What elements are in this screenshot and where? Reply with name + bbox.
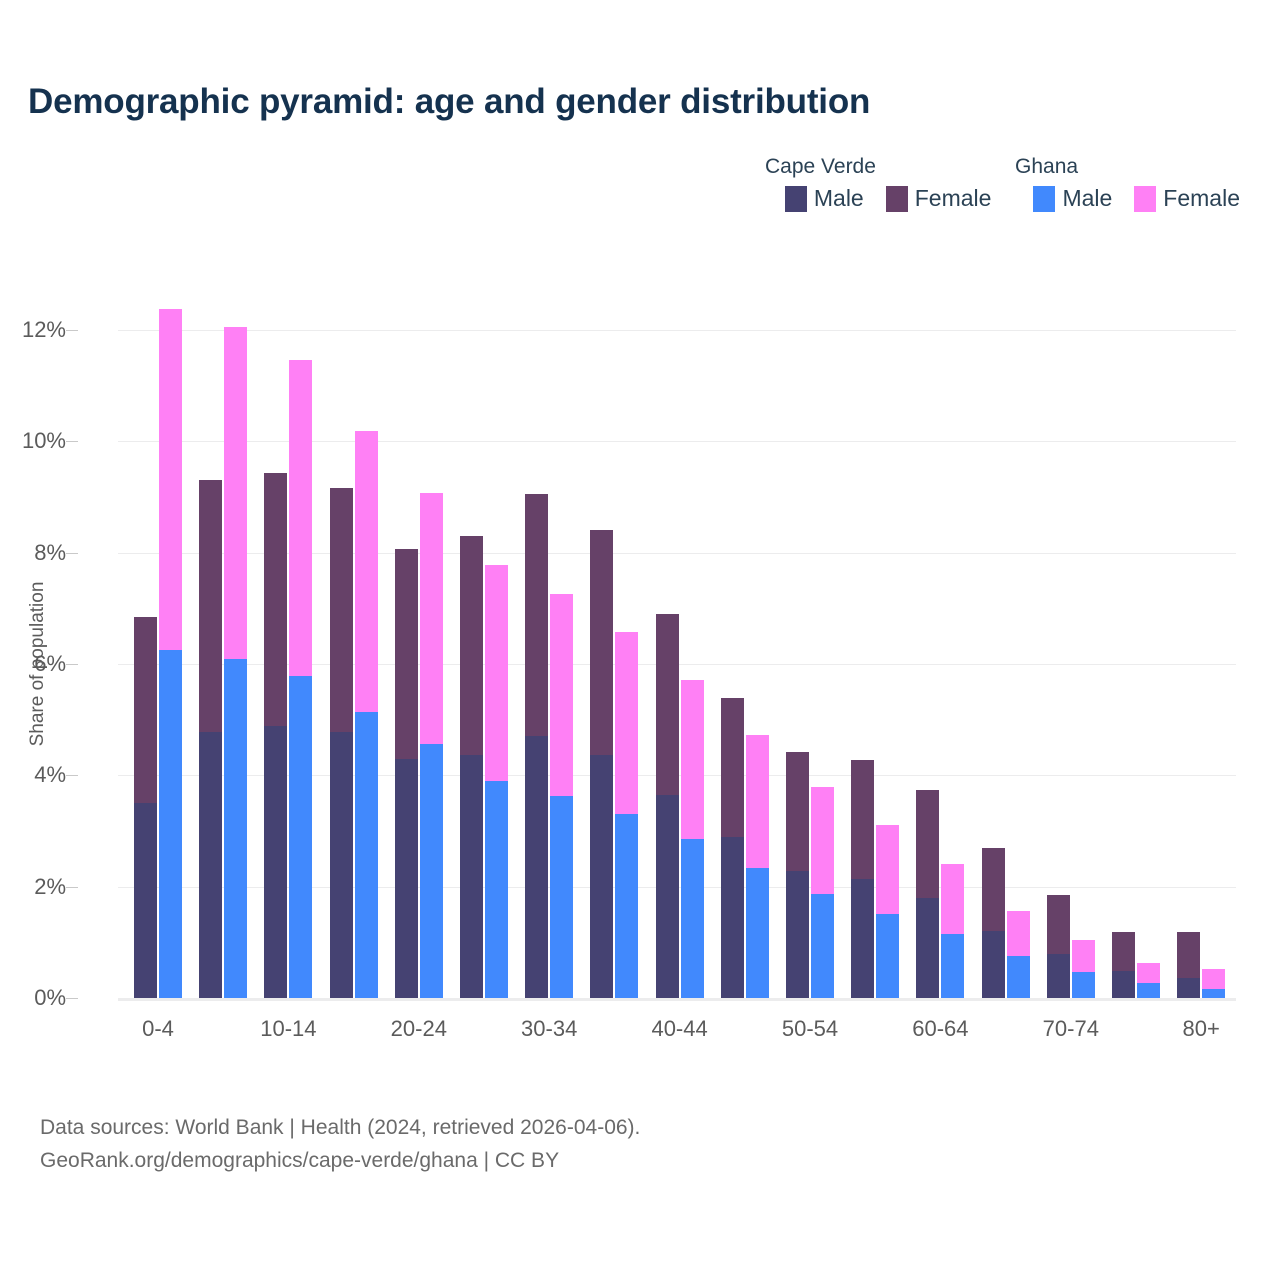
bar-segment-male[interactable] — [615, 814, 638, 998]
bar-segment-female[interactable] — [264, 473, 287, 727]
y-tick-mark — [66, 664, 78, 665]
bar-segment-male[interactable] — [485, 781, 508, 998]
chart-container: Demographic pyramid: age and gender dist… — [0, 0, 1280, 1280]
bar-segment-male[interactable] — [811, 894, 834, 998]
bar-group — [656, 330, 704, 998]
bar-group — [786, 330, 834, 998]
legend-swatch-icon — [886, 186, 908, 212]
legend-label: Male — [814, 185, 864, 212]
y-axis-tick-label: 4% — [34, 762, 66, 788]
bar-segment-male[interactable] — [1137, 983, 1160, 998]
bar-segment-female[interactable] — [289, 360, 312, 676]
y-tick-mark — [66, 998, 78, 999]
bar-segment-male[interactable] — [355, 712, 378, 998]
bar-group — [134, 330, 182, 998]
bar-segment-female[interactable] — [786, 752, 809, 871]
y-axis-tick-label: 0% — [34, 985, 66, 1011]
bar-segment-female[interactable] — [199, 480, 222, 732]
page-title: Demographic pyramid: age and gender dist… — [28, 82, 870, 122]
bar-segment-female[interactable] — [420, 493, 443, 745]
bar-segment-female[interactable] — [134, 617, 157, 803]
x-axis-tick-label: 20-24 — [391, 1016, 447, 1042]
bar-segment-male[interactable] — [264, 726, 287, 998]
bar-group — [330, 330, 378, 998]
bar-segment-female[interactable] — [159, 309, 182, 650]
bar-segment-female[interactable] — [916, 790, 939, 897]
bar-segment-male[interactable] — [1112, 971, 1135, 998]
legend-swatch-icon — [785, 186, 807, 212]
y-tick-mark — [66, 775, 78, 776]
bar-segment-male[interactable] — [420, 744, 443, 998]
bar-segment-male[interactable] — [1007, 956, 1030, 998]
bar-group — [1047, 330, 1095, 998]
bar-segment-female[interactable] — [1137, 963, 1160, 983]
legend-label: Male — [1062, 185, 1112, 212]
x-axis-tick-label: 60-64 — [912, 1016, 968, 1042]
y-tick-mark — [66, 887, 78, 888]
bar-segment-female[interactable] — [1072, 940, 1095, 972]
bar-segment-male[interactable] — [134, 803, 157, 998]
legend-group-title-ghana: Ghana — [1015, 155, 1240, 179]
bar-segment-male[interactable] — [590, 755, 613, 998]
bar-segment-male[interactable] — [330, 732, 353, 998]
bar-segment-male[interactable] — [525, 736, 548, 998]
x-axis-tick-label: 70-74 — [1043, 1016, 1099, 1042]
bar-segment-male[interactable] — [289, 676, 312, 998]
bar-group — [395, 330, 443, 998]
bar-group — [199, 330, 247, 998]
y-tick-mark — [66, 330, 78, 331]
chart-legend: Cape Verde Ghana Male Female Male Female — [765, 155, 1240, 212]
bar-segment-female[interactable] — [355, 431, 378, 712]
legend-items: Male Female Male Female — [785, 185, 1240, 212]
bar-segment-female[interactable] — [224, 327, 247, 659]
plot-area: Share of population 0%2%4%6%8%10%12% 0-4… — [118, 330, 1236, 998]
bar-segment-female[interactable] — [525, 494, 548, 736]
bar-segment-male[interactable] — [1202, 989, 1225, 998]
footer: Data sources: World Bank | Health (2024,… — [40, 1112, 640, 1177]
bar-segment-female[interactable] — [330, 488, 353, 732]
bar-segment-male[interactable] — [746, 868, 769, 998]
x-axis-tick-label: 0-4 — [142, 1016, 174, 1042]
bar-group — [851, 330, 899, 998]
bar-segment-male[interactable] — [1072, 972, 1095, 998]
bar-segment-male[interactable] — [199, 732, 222, 998]
bar-segment-female[interactable] — [681, 680, 704, 840]
legend-item-ghana-male[interactable]: Male — [1033, 185, 1112, 212]
footer-data-sources: Data sources: World Bank | Health (2024,… — [40, 1112, 640, 1145]
legend-swatch-icon — [1134, 186, 1156, 212]
x-axis-tick-label: 40-44 — [651, 1016, 707, 1042]
bar-segment-male[interactable] — [982, 931, 1005, 998]
bar-segment-female[interactable] — [1047, 895, 1070, 954]
y-axis-tick-label: 12% — [22, 317, 66, 343]
bar-segment-female[interactable] — [721, 698, 744, 837]
bar-group — [982, 330, 1030, 998]
bar-segment-female[interactable] — [746, 735, 769, 868]
bar-segment-male[interactable] — [1177, 978, 1200, 998]
legend-group-titles: Cape Verde Ghana — [765, 155, 1240, 179]
bar-segment-male[interactable] — [159, 650, 182, 998]
bar-segment-female[interactable] — [395, 549, 418, 758]
x-axis-tick-label: 10-14 — [260, 1016, 316, 1042]
bar-group — [264, 330, 312, 998]
bar-segment-female[interactable] — [460, 536, 483, 755]
x-axis-tick-label: 50-54 — [782, 1016, 838, 1042]
legend-group-title-cape-verde: Cape Verde — [765, 155, 1015, 179]
bar-group — [1112, 330, 1160, 998]
bar-segment-female[interactable] — [876, 825, 899, 914]
bars-layer — [118, 330, 1236, 998]
y-tick-mark — [66, 553, 78, 554]
bar-segment-male[interactable] — [224, 659, 247, 998]
legend-label: Female — [1163, 185, 1240, 212]
bar-segment-male[interactable] — [656, 795, 679, 998]
x-axis-tick-label: 80+ — [1183, 1016, 1220, 1042]
bar-segment-female[interactable] — [1202, 969, 1225, 989]
bar-segment-female[interactable] — [1112, 932, 1135, 971]
bar-group — [916, 330, 964, 998]
bar-segment-female[interactable] — [590, 530, 613, 755]
legend-item-cape-verde-male[interactable]: Male — [785, 185, 864, 212]
bar-segment-male[interactable] — [941, 934, 964, 998]
bar-segment-male[interactable] — [786, 871, 809, 998]
bar-segment-female[interactable] — [941, 864, 964, 934]
bar-segment-male[interactable] — [1047, 954, 1070, 998]
y-axis-tick-label: 6% — [34, 651, 66, 677]
y-tick-mark — [66, 441, 78, 442]
bar-segment-male[interactable] — [550, 796, 573, 998]
bar-segment-female[interactable] — [851, 760, 874, 880]
bar-segment-female[interactable] — [550, 594, 573, 796]
legend-item-ghana-female[interactable]: Female — [1134, 185, 1240, 212]
bar-segment-male[interactable] — [681, 839, 704, 998]
bar-segment-female[interactable] — [1177, 932, 1200, 978]
bar-segment-female[interactable] — [615, 632, 638, 815]
y-axis-tick-label: 8% — [34, 540, 66, 566]
bar-segment-male[interactable] — [721, 837, 744, 998]
bar-segment-female[interactable] — [811, 787, 834, 894]
bar-segment-female[interactable] — [982, 848, 1005, 932]
y-axis-tick-label: 10% — [22, 428, 66, 454]
bar-group — [1177, 330, 1225, 998]
x-axis-baseline — [118, 998, 1236, 1001]
bar-group — [525, 330, 573, 998]
bar-segment-male[interactable] — [851, 879, 874, 998]
bar-segment-male[interactable] — [395, 759, 418, 998]
x-axis-tick-label: 30-34 — [521, 1016, 577, 1042]
bar-group — [721, 330, 769, 998]
legend-label: Female — [915, 185, 992, 212]
bar-segment-female[interactable] — [485, 565, 508, 781]
bar-segment-male[interactable] — [916, 898, 939, 998]
bar-segment-female[interactable] — [1007, 911, 1030, 957]
bar-group — [460, 330, 508, 998]
bar-group — [590, 330, 638, 998]
legend-item-cape-verde-female[interactable]: Female — [886, 185, 992, 212]
footer-attribution: GeoRank.org/demographics/cape-verde/ghan… — [40, 1145, 640, 1178]
y-axis-tick-label: 2% — [34, 874, 66, 900]
legend-swatch-icon — [1033, 186, 1055, 212]
bar-segment-male[interactable] — [876, 914, 899, 998]
bar-segment-female[interactable] — [656, 614, 679, 794]
bar-segment-male[interactable] — [460, 755, 483, 998]
